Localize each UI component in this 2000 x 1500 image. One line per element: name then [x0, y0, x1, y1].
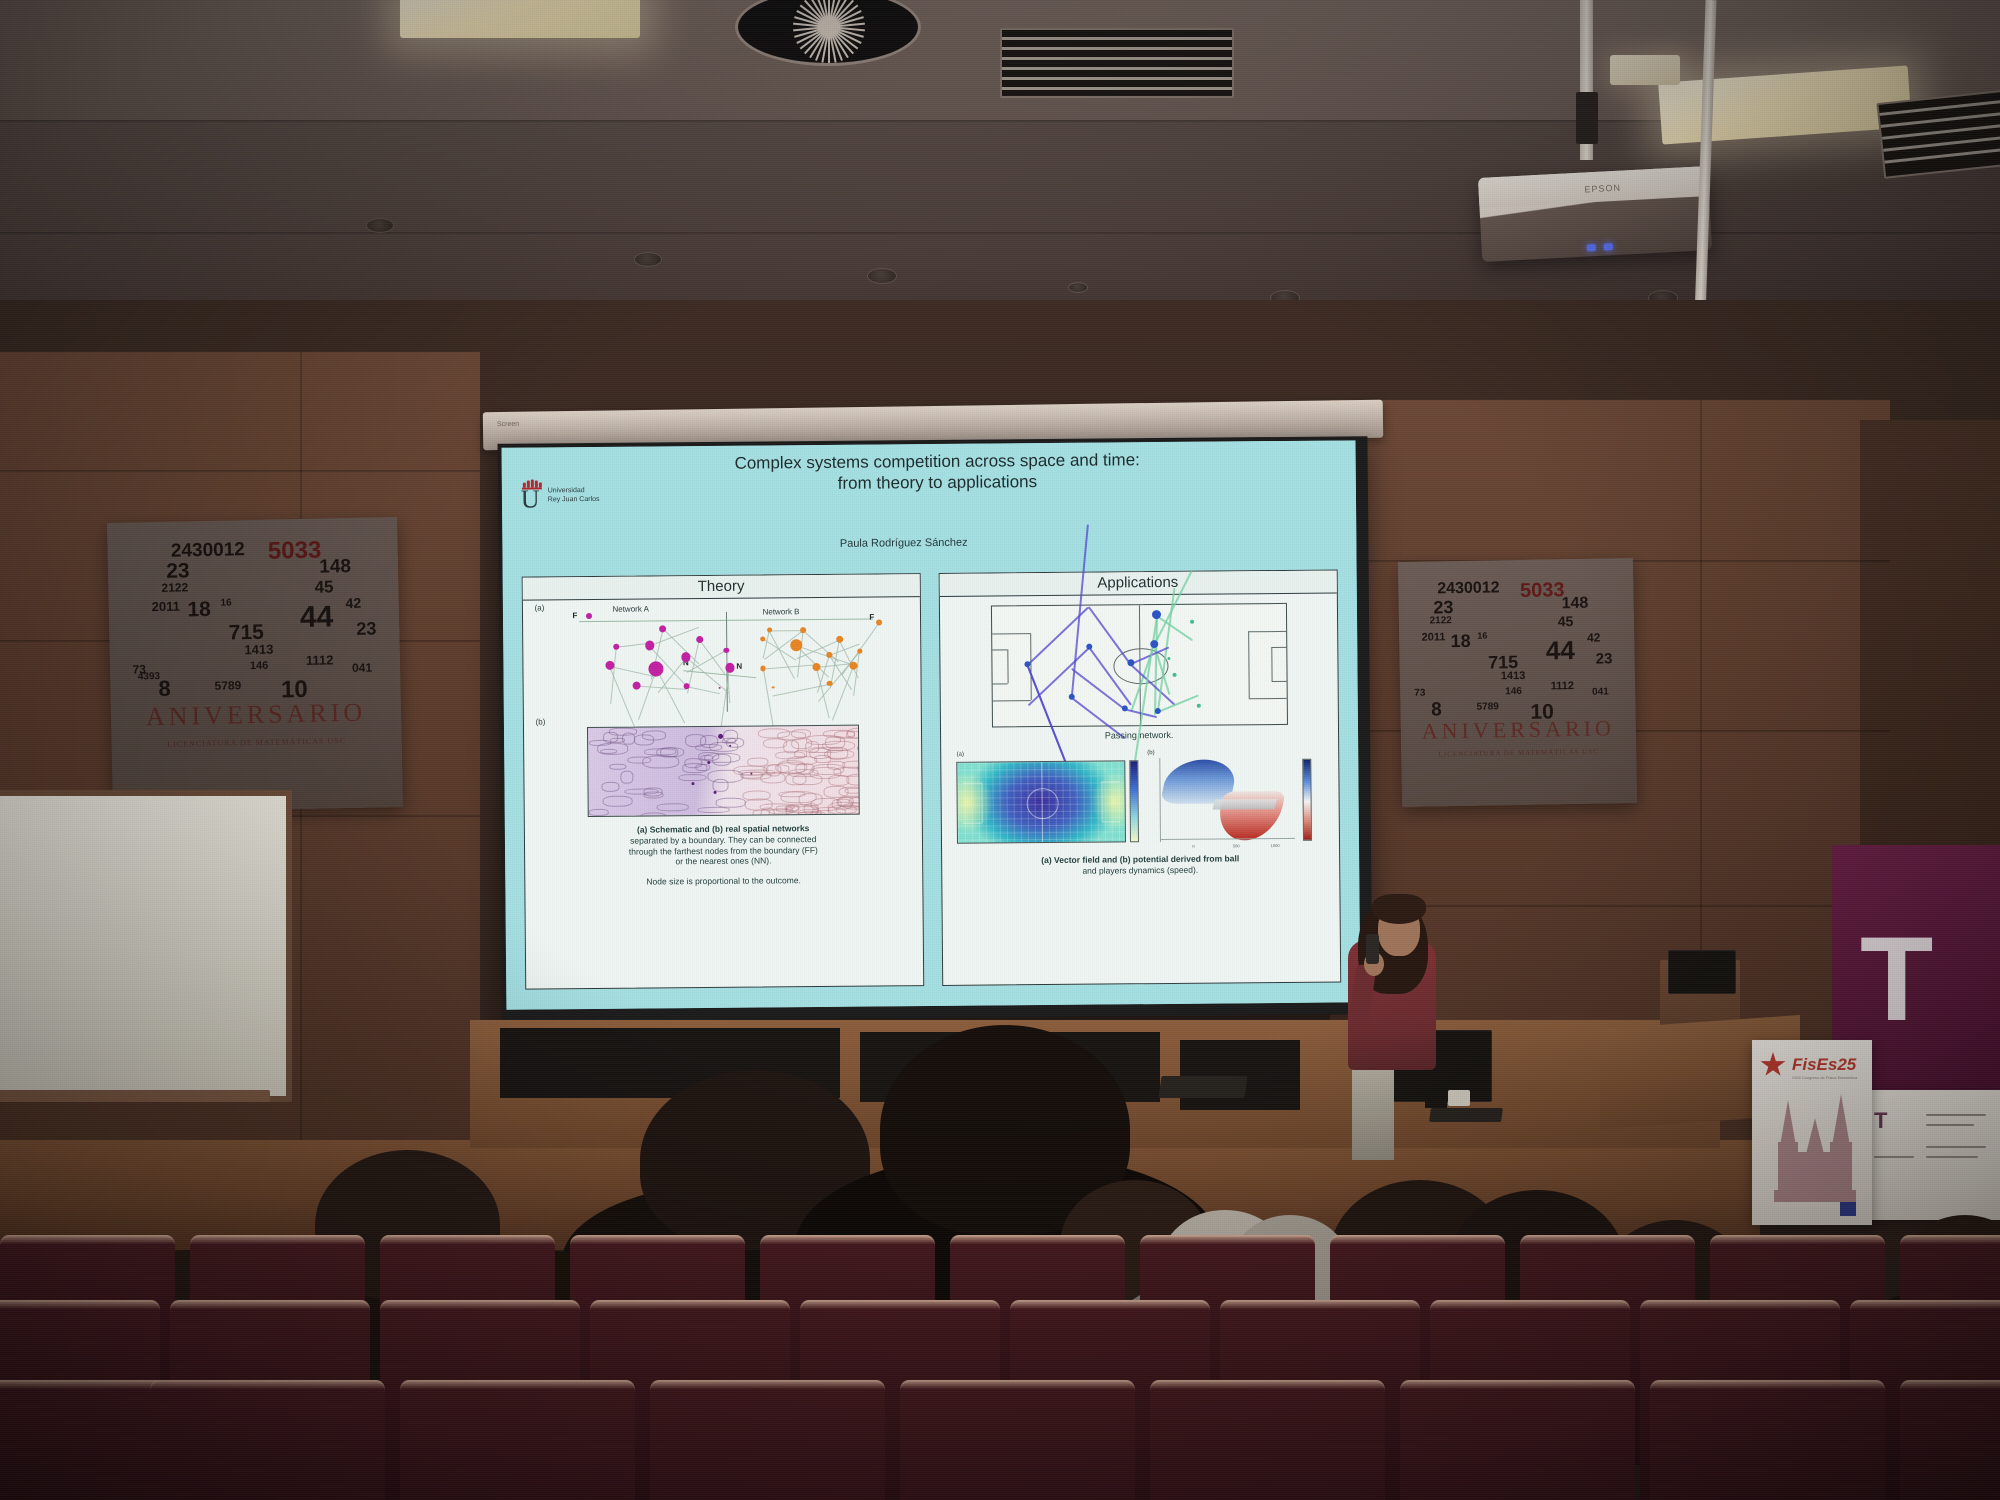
node-tag-n-b: N: [736, 662, 742, 671]
voronoi-cell: [695, 744, 722, 752]
network-edge: [797, 630, 804, 677]
auditorium-seat: [150, 1380, 385, 1500]
voronoi-cell: [763, 764, 789, 773]
voronoi-cell: [678, 774, 706, 782]
network-edge: [686, 686, 719, 694]
network-node: [725, 663, 734, 672]
spatial-network-node: [713, 791, 716, 794]
projector-led: [1604, 243, 1613, 250]
voronoi-cell: [603, 732, 618, 743]
number-cloud: 2430012 23 5033 2122 148 45 2011 18 16 4…: [125, 535, 383, 691]
speaker-hair-top: [1372, 894, 1426, 924]
voronoi-cell: [640, 813, 667, 817]
auditorium-seat: [1150, 1380, 1385, 1500]
seat-top-rim: [1900, 1235, 2000, 1244]
network-node: [760, 666, 766, 672]
fises-sponsor-badge: [1840, 1202, 1856, 1216]
seat-top-rim: [900, 1380, 1135, 1389]
passing-network-caption: Passing network.: [956, 729, 1321, 743]
projector-led: [1587, 244, 1596, 251]
voronoi-cell: [847, 774, 860, 786]
fises-logo-subtitle: XXIII Congreso de Física Estadística: [1792, 1076, 1864, 1081]
auditorium-seat: [1650, 1380, 1885, 1500]
microphone: [1366, 934, 1379, 964]
network-node: [877, 620, 883, 626]
network-node: [836, 636, 843, 643]
wood-seam: [0, 470, 480, 472]
network-b-label: Network B: [763, 607, 800, 616]
side-banner: T: [1864, 1090, 2000, 1220]
spatial-network-node: [691, 782, 694, 785]
ceiling-vent: [1876, 89, 2000, 179]
voronoi-cell: [752, 810, 770, 817]
panel-theory-note: Node size is proportional to the outcome…: [541, 875, 906, 889]
screen-surface: U Universidad Rey Juan Carlos Complex sy…: [502, 440, 1361, 1009]
seat-top-rim: [1850, 1300, 2000, 1309]
seat-top-rim: [590, 1300, 790, 1309]
star-icon: [1760, 1052, 1786, 1078]
seat-top-rim: [1650, 1380, 1885, 1389]
spatial-network-map: [587, 725, 860, 817]
heatmap-colorbar: [1129, 760, 1139, 842]
voronoi-cell: [809, 767, 841, 779]
auditorium-seat: [900, 1380, 1135, 1500]
seat-top-rim: [380, 1300, 580, 1309]
slide: U Universidad Rey Juan Carlos Complex sy…: [502, 440, 1361, 1009]
network-node: [767, 628, 772, 633]
network-node: [659, 625, 666, 632]
lecture-hall-photo: EPSON 2430012 23 5033 2122 148 45 2011 1…: [0, 0, 2000, 1500]
voronoi-cell: [642, 730, 666, 740]
potential-surface-plot: 0 500 1000: [1159, 757, 1295, 842]
projector-brand-label: EPSON: [1584, 182, 1621, 194]
seat-top-rim: [400, 1380, 635, 1389]
voronoi-cell: [643, 787, 662, 796]
pass-node: [1150, 640, 1158, 648]
number-cloud: 2430012 23 5033 2122 148 45 2011 18 16 4…: [1412, 578, 1621, 709]
seat-top-rim: [1220, 1300, 1420, 1309]
pass-node: [1167, 656, 1170, 659]
voronoi-cell: [684, 758, 702, 769]
slide-author: Paula Rodríguez Sánchez: [622, 535, 1186, 552]
seat-top-rim: [800, 1300, 1000, 1309]
voronoi-cell: [722, 738, 736, 744]
pass-node: [1197, 704, 1201, 708]
panel-theory-caption: (a) Schematic and (b) real spatial netwo…: [540, 823, 906, 869]
poster-heading: ANIVERSARIO: [1401, 715, 1636, 745]
anniversary-poster-left: 2430012 23 5033 2122 148 45 2011 18 16 4…: [107, 517, 403, 813]
seat-top-rim: [1400, 1380, 1635, 1389]
pass-node: [1173, 673, 1177, 677]
urjc-mark-letter: U: [521, 487, 540, 511]
panel-theory-heading: Theory: [522, 574, 919, 600]
seat-top-rim: [1710, 1235, 1885, 1244]
network-edge: [649, 627, 699, 647]
auditorium-seat: [1400, 1380, 1635, 1500]
network-node: [812, 663, 820, 671]
voronoi-cell: [797, 811, 827, 817]
figure-label-b: (b): [536, 718, 546, 727]
network-a-label: Network A: [612, 605, 649, 614]
network-node: [849, 662, 857, 670]
network-node: [772, 686, 774, 688]
voronoi-cell: [779, 791, 806, 798]
ceiling-vent: [1000, 28, 1234, 98]
poster-heading: ANIVERSARIO: [111, 697, 402, 733]
urjc-logo: U Universidad Rey Juan Carlos: [521, 481, 600, 512]
nn-connection-edge: [683, 670, 756, 678]
network-edge: [638, 669, 657, 720]
seat-top-rim: [1900, 1380, 2000, 1389]
voronoi-cell: [745, 798, 773, 811]
voronoi-cell: [805, 741, 819, 752]
pass-node: [1190, 620, 1194, 624]
fises-poster: FisEs25 XXIII Congreso de Física Estadís…: [1752, 1040, 1872, 1225]
voronoi-cell: [822, 740, 855, 751]
seat-top-rim: [950, 1235, 1125, 1244]
voronoi-cell: [656, 747, 684, 758]
seat-top-rim: [1640, 1300, 1840, 1309]
urjc-name: Universidad Rey Juan Carlos: [548, 487, 600, 505]
poster-subheading: LICENCIATURA DE MATEMÁTICAS USC: [112, 734, 402, 749]
side-banner-letter: T: [1874, 1108, 1887, 1134]
network-node: [827, 652, 833, 658]
seat-top-rim: [1430, 1300, 1630, 1309]
panel-theory: Theory (a) (b) Network A Network B F N: [521, 573, 924, 989]
seat-top-rim: [1150, 1380, 1385, 1389]
caption-line-4: or the nearest ones (NN).: [541, 854, 906, 868]
network-figure: Network A Network B F N F N: [562, 603, 897, 716]
voronoi-cell: [810, 798, 841, 811]
seat-top-rim: [150, 1380, 385, 1389]
network-node: [586, 613, 592, 619]
seat-top-rim: [0, 1380, 175, 1389]
voronoi-cell: [603, 796, 633, 807]
network-edge: [609, 666, 635, 727]
seat-top-rim: [380, 1235, 555, 1244]
network-edge: [763, 669, 774, 726]
seat-top-rim: [1140, 1235, 1315, 1244]
voronoi-cell: [857, 744, 860, 753]
backdrop-letter: T: [1860, 929, 1933, 1029]
node-tag-f-b: F: [869, 613, 874, 622]
panel-applications: Applications: [938, 570, 1341, 986]
projector: EPSON: [1478, 166, 1712, 262]
voronoi-cell: [622, 732, 635, 744]
auditorium-seat: [1900, 1380, 2000, 1500]
ceiling-light-panel: [1610, 55, 1680, 85]
caption-line-2: and players dynamics (speed).: [958, 863, 1323, 877]
network-node: [632, 681, 640, 689]
paper-sheet: [1448, 1090, 1470, 1106]
auditorium-seat: [650, 1380, 885, 1500]
voronoi-cell: [698, 807, 730, 813]
seat-top-rim: [0, 1235, 175, 1244]
podium-monitor: [1668, 950, 1736, 994]
potential-colorbar: [1302, 759, 1312, 841]
seat-top-rim: [760, 1235, 935, 1244]
voronoi-cell: [621, 771, 634, 784]
pass-edge: [1157, 694, 1199, 713]
seat-top-rim: [190, 1235, 365, 1244]
network-edge: [763, 630, 770, 657]
voronoi-cell: [713, 753, 732, 766]
cathedral-illustration: [1772, 1092, 1858, 1204]
desk-item: [1429, 1108, 1503, 1122]
voronoi-cell: [589, 809, 609, 816]
fises-logo-text: FisEs25: [1792, 1055, 1856, 1075]
node-tag-f-a: F: [572, 611, 577, 620]
seat-top-rim: [1010, 1300, 1210, 1309]
panel-applications-caption: (a) Vector field and (b) potential deriv…: [958, 853, 1323, 877]
voronoi-cell: [601, 782, 619, 792]
slide-title: Complex systems competition across space…: [596, 449, 1280, 496]
voronoi-cell: [823, 730, 855, 738]
desk-recess: [1180, 1040, 1300, 1110]
voronoi-cell: [610, 764, 627, 770]
network-edge: [769, 630, 802, 631]
spatial-network-node: [707, 761, 710, 764]
projection-screen: U Universidad Rey Juan Carlos Complex sy…: [497, 436, 1372, 1022]
laptop: [1158, 1076, 1247, 1098]
seat-top-rim: [570, 1235, 745, 1244]
network-node: [723, 647, 729, 653]
whiteboard-tray: [0, 1090, 270, 1102]
seat-top-rim: [1330, 1235, 1505, 1244]
auditorium-seat: [400, 1380, 635, 1500]
figure-label-a: (a): [535, 604, 545, 613]
figure-label-a: (a): [957, 752, 964, 758]
network-node: [645, 641, 654, 650]
network-node: [684, 683, 690, 689]
voronoi-cell: [656, 803, 689, 811]
screen-housing-label: Screen: [497, 421, 519, 428]
seat-top-rim: [1520, 1235, 1695, 1244]
poster-subheading: LICENCIATURA DE MATEMÁTICAS USC: [1401, 747, 1636, 759]
recessed-downlight: [366, 218, 394, 233]
network-node: [696, 636, 703, 643]
urjc-crown-icon: U: [521, 481, 543, 511]
voronoi-cell: [627, 756, 652, 764]
voronoi-cell: [824, 786, 849, 799]
urjc-name-line2: Rey Juan Carlos: [548, 496, 600, 505]
passing-network-pitch: [991, 603, 1288, 728]
anniversary-poster-right: 2430012 23 5033 2122 148 45 2011 18 16 4…: [1398, 558, 1637, 807]
whiteboard: [0, 790, 292, 1102]
figure-label-b: (b): [1147, 750, 1154, 756]
pass-node: [1155, 708, 1161, 714]
auditorium-seat: [0, 1380, 175, 1500]
projector-mount: [1576, 92, 1598, 144]
network-node: [800, 627, 806, 633]
recessed-downlight: [634, 252, 662, 267]
network-node: [857, 649, 862, 654]
seat-top-rim: [170, 1300, 370, 1309]
spatial-network-node: [729, 745, 731, 747]
network-node: [613, 644, 619, 650]
seat-top-rim: [650, 1380, 885, 1389]
vector-field-heatmap: [957, 761, 1126, 844]
recessed-downlight: [867, 268, 897, 284]
seat-top-rim: [0, 1300, 160, 1309]
recessed-downlight: [1068, 282, 1088, 293]
voronoi-cell: [757, 728, 790, 738]
network-node: [649, 661, 664, 676]
panel-applications-heading: Applications: [939, 571, 1336, 597]
ceiling-light-panel: [400, 0, 640, 38]
